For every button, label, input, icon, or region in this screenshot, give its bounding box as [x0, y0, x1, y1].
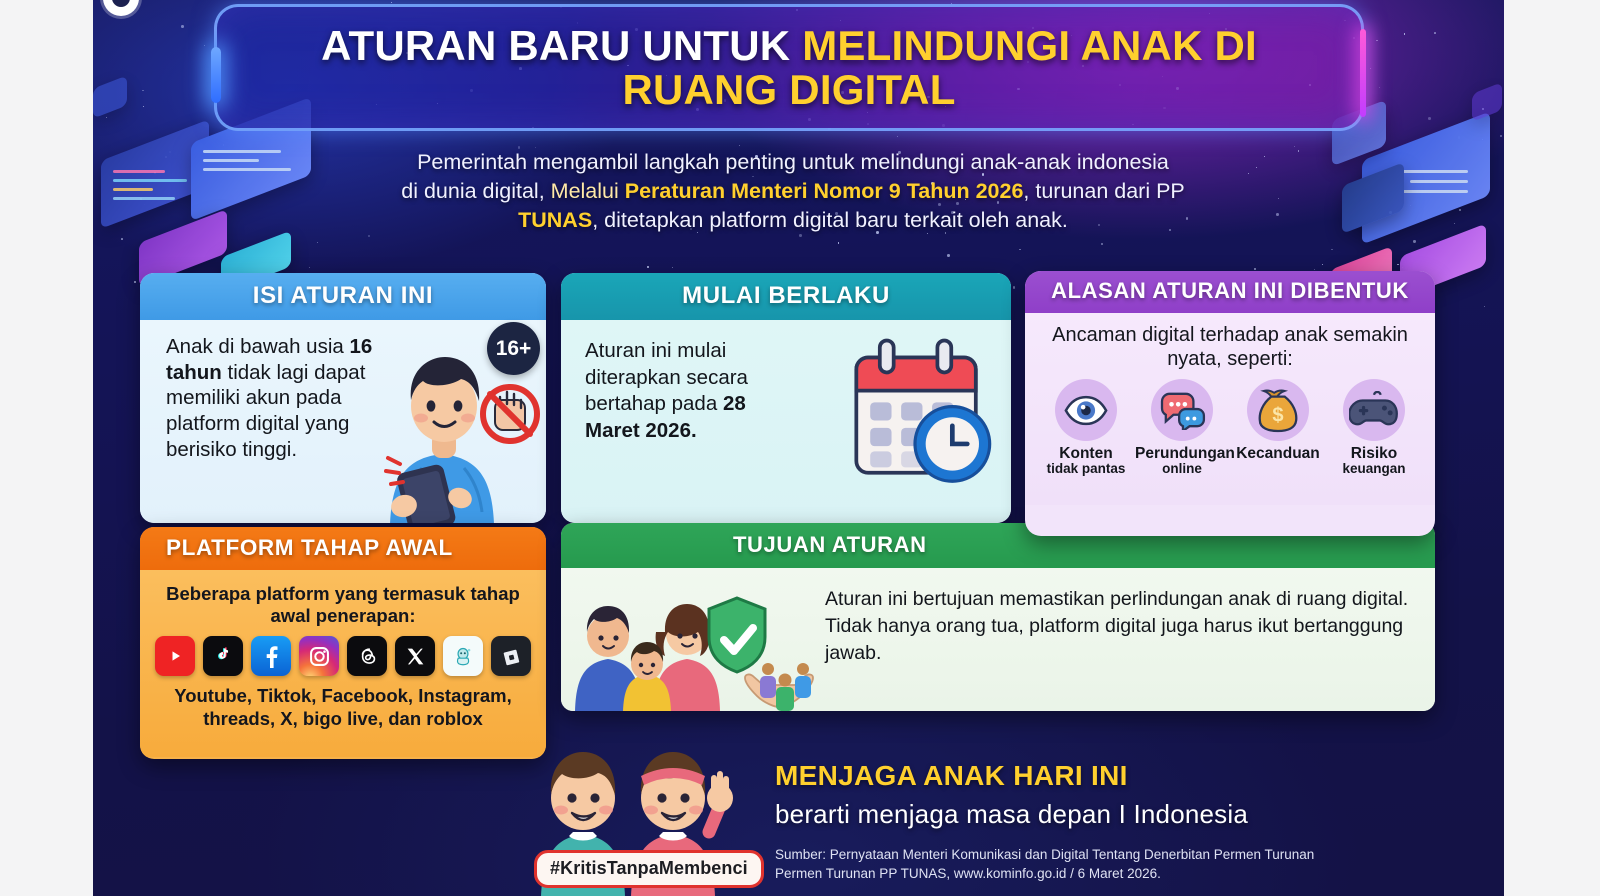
threat-item: Perundungan online: [1135, 379, 1229, 477]
threat-label-1: Konten: [1039, 445, 1133, 462]
card-mulai-heading: MULAI BERLAKU: [561, 273, 1011, 320]
subtitle-line-1: Pemerintah mengambil langkah penting unt…: [417, 150, 1169, 174]
footer-headline-primary: MENJAGA ANAK HARI INI: [775, 760, 1128, 792]
source-line-1: Sumber: Pernyataan Menteri Komunikasi da…: [775, 847, 1314, 862]
subtitle-line-3c: , ditetapkan platform digital baru terka…: [592, 208, 1068, 232]
card-mulai-text: Aturan ini mulai diterapkan secara berta…: [585, 338, 800, 445]
card-platform-lead: Beberapa platform yang termasuk tahap aw…: [152, 583, 534, 627]
no-hand-stop-icon: [483, 387, 537, 441]
source-line-2: Permen Turunan PP TUNAS, www.kominfo.go.…: [775, 866, 1161, 881]
card-tujuan-text: Aturan ini bertujuan memastikan perlindu…: [821, 568, 1435, 711]
subtitle-line-2a: di dunia digital,: [401, 179, 550, 203]
card-isi-body: Anak di bawah usia 16 tahun tidak lagi d…: [140, 320, 546, 523]
card-alasan-body: Ancaman digital terhadap anak semakin ny…: [1025, 313, 1435, 505]
card-mulai-body: Aturan ini mulai diterapkan secara berta…: [561, 320, 1011, 523]
calendar-clock-icon: [835, 338, 995, 493]
bigo-live-icon[interactable]: [443, 636, 483, 676]
card-mulai-berlaku: MULAI BERLAKU Aturan ini mulai diterapka…: [561, 273, 1011, 523]
money-bag-icon: $: [1247, 379, 1309, 441]
card-alasan-lead: Ancaman digital terhadap anak semakin ny…: [1033, 323, 1427, 372]
eye-icon: [1055, 379, 1117, 441]
threat-label-1: Kecanduan: [1231, 445, 1325, 462]
footer-headline-secondary: berarti menjaga masa depan I Indonesia: [775, 799, 1248, 830]
x-twitter-icon[interactable]: [395, 636, 435, 676]
isi-text-a: Anak di bawah usia: [166, 335, 349, 358]
hashtag-badge: #KritisTanpaMembenci: [534, 850, 764, 888]
threat-item: Konten tidak pantas: [1039, 379, 1133, 477]
boy-with-phone-illustration: [364, 328, 542, 523]
subtitle-tunas: TUNAS: [518, 208, 592, 232]
family-shield-illustration: [561, 568, 821, 711]
threat-label-2: online: [1135, 462, 1229, 477]
threat-label-1: Perundungan: [1135, 445, 1229, 462]
platform-icon-row: [152, 636, 534, 676]
facebook-icon[interactable]: [251, 636, 291, 676]
title-banner: ATURAN BARU UNTUK MELINDUNGI ANAK DI RUA…: [214, 4, 1364, 131]
card-alasan-heading: ALASAN ATURAN INI DIBENTUK: [1025, 271, 1435, 313]
title-part-white: ATURAN BARU UNTUK: [321, 22, 802, 69]
subtitle-line-2c: , turunan dari PP: [1023, 179, 1184, 203]
tiktok-icon[interactable]: [203, 636, 243, 676]
youtube-icon[interactable]: [155, 636, 195, 676]
threat-item: $ Kecanduan: [1231, 379, 1325, 477]
card-platform-heading: PLATFORM TAHAP AWAL: [140, 527, 546, 570]
roblox-icon[interactable]: [491, 636, 531, 676]
gamepad-icon: [1343, 379, 1405, 441]
card-tujuan-aturan: TUJUAN ATURAN: [561, 523, 1435, 711]
threat-label-1: Risiko: [1327, 445, 1421, 462]
threat-item: Risiko keuangan: [1327, 379, 1421, 477]
instagram-icon[interactable]: [299, 636, 339, 676]
subtitle-paragraph: Pemerintah mengambil langkah penting unt…: [303, 148, 1283, 236]
subtitle-regulation-name: Peraturan Menteri Nomor 9 Tahun 2026: [625, 179, 1024, 203]
chat-bubbles-icon: [1151, 379, 1213, 441]
threat-label-2: keuangan: [1327, 462, 1421, 477]
subtitle-line-2b: Melalui: [551, 179, 625, 203]
threat-list: Konten tidak pantas Perundung: [1033, 371, 1427, 477]
infographic-poster: ATURAN BARU UNTUK MELINDUNGI ANAK DI RUA…: [93, 0, 1504, 896]
card-alasan-aturan: ALASAN ATURAN INI DIBENTUK Ancaman digit…: [1025, 271, 1435, 536]
threat-label-2: tidak pantas: [1039, 462, 1133, 477]
source-citation: Sumber: Pernyataan Menteri Komunikasi da…: [775, 845, 1415, 884]
footer-section: #KritisTanpaMembenci MENJAGA ANAK HARI I…: [93, 711, 1504, 896]
brand-logo: [103, 0, 139, 16]
card-isi-aturan: ISI ATURAN INI Anak di bawah usia 16 tah…: [140, 273, 546, 523]
card-tujuan-body: Aturan ini bertujuan memastikan perlindu…: [561, 568, 1435, 711]
glow-accent-left: [211, 47, 221, 103]
screenshot-canvas: ATURAN BARU UNTUK MELINDUNGI ANAK DI RUA…: [0, 0, 1600, 896]
svg-text:$: $: [1272, 405, 1283, 427]
platform-list-line-1: Youtube, Tiktok, Facebook, Instagram,: [174, 685, 512, 706]
page-title: ATURAN BARU UNTUK MELINDUNGI ANAK DI RUA…: [217, 24, 1361, 111]
threads-icon[interactable]: [347, 636, 387, 676]
card-isi-heading: ISI ATURAN INI: [140, 273, 546, 320]
card-isi-text: Anak di bawah usia 16 tahun tidak lagi d…: [166, 334, 391, 462]
